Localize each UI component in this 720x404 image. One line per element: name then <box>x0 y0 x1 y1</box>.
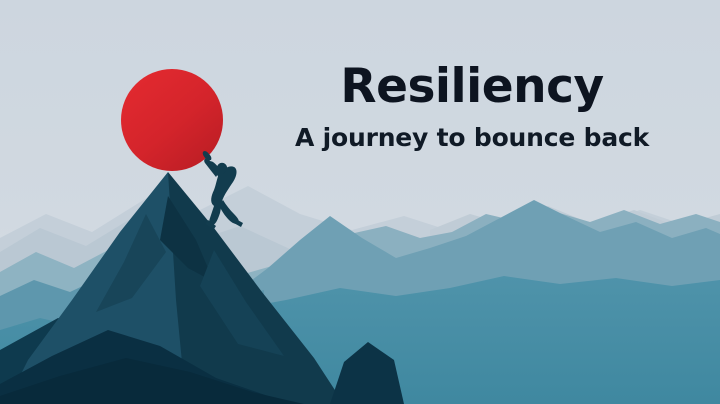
illustration-scene <box>0 0 720 404</box>
poster-canvas: Resiliency A journey to bounce back <box>0 0 720 404</box>
